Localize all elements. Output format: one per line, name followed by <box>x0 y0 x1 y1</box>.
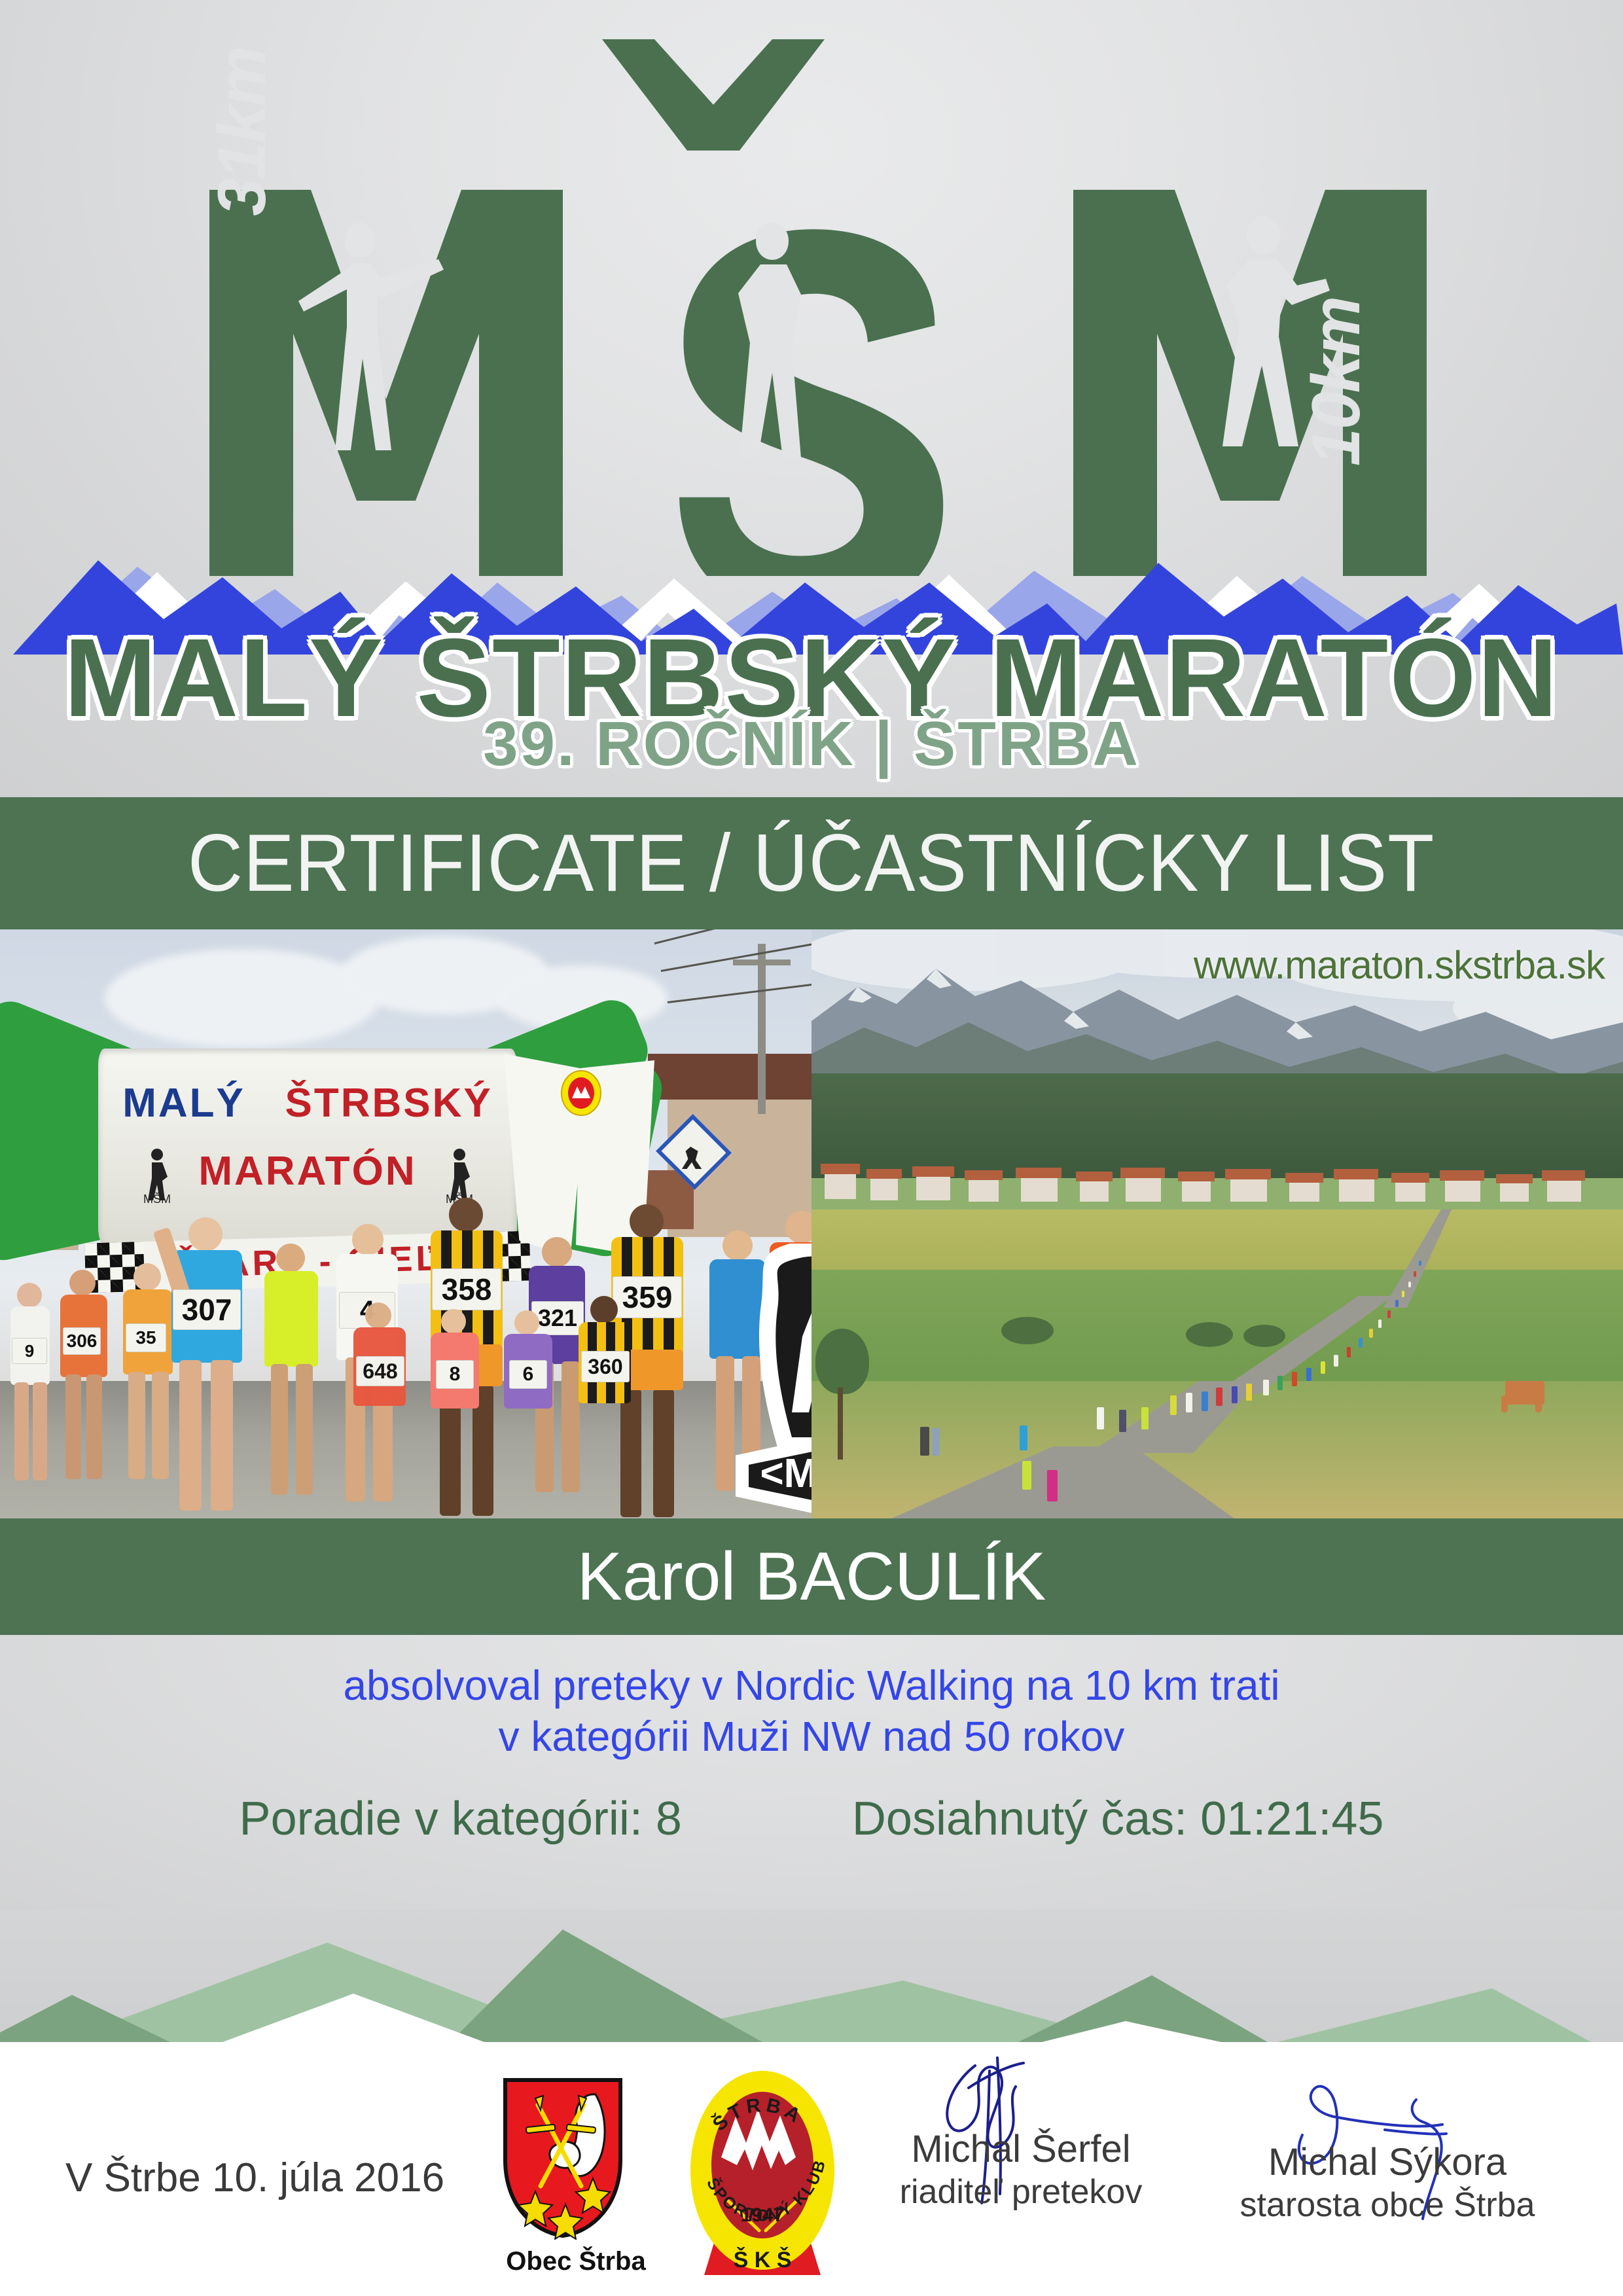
bib-number: 648 <box>356 1356 404 1386</box>
runner-dot <box>1402 1291 1404 1297</box>
runner-dot <box>1170 1395 1177 1415</box>
place-and-date: V Štrbe 10. júla 2016 <box>65 2155 444 2201</box>
runner-dot <box>1408 1282 1411 1287</box>
obec-strba-coat-of-arms-icon <box>497 2076 628 2240</box>
runner-dot <box>1414 1271 1416 1277</box>
distance-10km-label: 10km <box>1302 297 1370 466</box>
bib-number: 6 <box>509 1360 547 1389</box>
footer-section: V Štrbe 10. júla 2016 <box>0 2042 1623 2296</box>
svg-text:<MŠM>: <MŠM> <box>760 1451 811 1496</box>
tree-crown <box>815 1329 869 1394</box>
runner: 6 <box>492 1310 564 1518</box>
runner-dot <box>1334 1355 1338 1367</box>
signature-name: Michal Šerfel <box>851 2127 1191 2171</box>
signature-block-mayor: Michal Sýkora starosta obce Štrba <box>1217 2140 1558 2225</box>
runner-dot <box>1292 1372 1297 1386</box>
runner-dot <box>1246 1384 1252 1401</box>
bib-number: 8 <box>436 1360 474 1389</box>
signature-name: Michal Sýkora <box>1217 2140 1558 2184</box>
category-rank: Poradie v kategórii: 8 <box>240 1792 682 1846</box>
village <box>811 1145 1623 1217</box>
runner-crowd: 9 306 35 <box>0 1191 811 1518</box>
cow-leg <box>1501 1395 1508 1412</box>
certificate-title: CERTIFICATE / ÚČASTNÍCKY LIST <box>188 817 1435 910</box>
msm-medallion-icon: <MŠM> <box>726 1244 811 1518</box>
runner-dot <box>1119 1410 1126 1432</box>
bush <box>1001 1317 1054 1344</box>
spectator-dot <box>932 1428 940 1456</box>
runner-dot <box>1359 1338 1363 1348</box>
certificate-page: 31km 10km <box>0 0 1623 2296</box>
runner-dot <box>1020 1426 1027 1450</box>
event-logo: 31km 10km <box>0 0 1623 797</box>
spectator-dot <box>920 1427 929 1456</box>
bib-number: 307 <box>173 1289 241 1330</box>
runner-dot <box>1186 1393 1192 1412</box>
results-row: Poradie v kategórii: 8 Dosiahnutý čas: 0… <box>0 1792 1623 1846</box>
description-line-2: v kategórii Muži NW nad 50 rokov <box>0 1711 1623 1762</box>
runner-dot <box>1277 1376 1283 1390</box>
runner-dot <box>1202 1391 1208 1411</box>
runner-dot <box>1378 1319 1382 1328</box>
municipality-emblem-caption: Obec Štrba <box>497 2247 654 2276</box>
photo-strip: MALÝ ŠTRBSKÝ MARATÓN MŠM MŠM <box>0 929 1623 1518</box>
page-subtitle: 39. ROČNÍK | ŠTRBA <box>0 708 1623 780</box>
runner: 306 <box>47 1270 119 1518</box>
participation-description: absolvoval preteky v Nordic Walking na 1… <box>0 1660 1623 1762</box>
certificate-title-band: CERTIFICATE / ÚČASTNÍCKY LIST <box>0 797 1623 929</box>
photo-start-line: MALÝ ŠTRBSKÝ MARATÓN MŠM MŠM <box>0 929 811 1518</box>
arch-title-line1: MALÝ ŠTRBSKÝ <box>98 1080 517 1126</box>
participant-name-band: Karol BACULÍK <box>0 1518 1623 1635</box>
runner-dot <box>1263 1380 1269 1395</box>
runner-dot <box>1369 1329 1373 1338</box>
runner-dot <box>1216 1388 1222 1406</box>
bib-number: 306 <box>63 1327 101 1355</box>
signature-role: starosta obce Štrba <box>1217 2185 1558 2225</box>
runner-dot <box>1022 1461 1031 1490</box>
runner-dot <box>1419 1261 1421 1266</box>
signature-role: riaditeľ pretekov <box>851 2172 1191 2212</box>
sks-club-emblem-icon: 1947 ŠTRBA ŠPORTOVÝ KLUB Š K Š <box>681 2067 844 2283</box>
sports-club-emblem: 1947 ŠTRBA ŠPORTOVÝ KLUB Š K Š <box>681 2067 844 2283</box>
runner: 648 <box>340 1302 419 1518</box>
cloud <box>105 949 380 1047</box>
msm-wordmark-icon <box>196 26 1433 576</box>
runner-dot <box>1141 1407 1149 1429</box>
utility-pole <box>758 944 766 1114</box>
bib-number: 358 <box>432 1268 501 1310</box>
runner-dot <box>1047 1470 1058 1501</box>
runner: 307 <box>148 1217 259 1518</box>
bib-number: 9 <box>12 1338 47 1364</box>
runner: 360 <box>567 1296 645 1518</box>
website-url[interactable]: www.maraton.skstrba.sk <box>1194 942 1605 988</box>
finish-time: Dosiahnutý čas: 01:21:45 <box>852 1792 1384 1846</box>
municipality-emblem: Obec Štrba <box>497 2076 654 2272</box>
participant-name: Karol BACULÍK <box>577 1538 1046 1616</box>
runner-dot <box>1097 1407 1104 1429</box>
distance-31km-label: 31km <box>208 47 276 216</box>
runner-dot <box>1387 1310 1391 1318</box>
bush <box>1186 1322 1233 1347</box>
runner-dot <box>1232 1386 1238 1403</box>
bush <box>1243 1325 1285 1347</box>
bib-number: 360 <box>581 1351 630 1382</box>
runner-dot <box>1321 1361 1325 1374</box>
runner-dot <box>1395 1300 1399 1307</box>
photo-race-course: www.maraton.skstrba.sk <box>811 929 1623 1518</box>
roof <box>648 1054 811 1100</box>
details-section: absolvoval preteky v Nordic Walking na 1… <box>0 1635 1623 1910</box>
hero-section: 31km 10km <box>0 0 1623 797</box>
runner: 8 <box>419 1309 491 1518</box>
tree-trunk <box>838 1388 843 1460</box>
description-line-1: absolvoval preteky v Nordic Walking na 1… <box>0 1660 1623 1711</box>
club-bottom-text: Š K Š <box>734 2247 792 2272</box>
cow-leg <box>1535 1395 1542 1412</box>
pole-crossarm <box>733 960 791 965</box>
runner-dot <box>1347 1347 1351 1357</box>
runner-dot <box>1306 1368 1311 1381</box>
sks-flag-emblem-icon <box>558 1069 605 1117</box>
signature-block-director: Michal Šerfel riaditeľ pretekov <box>851 2127 1191 2212</box>
